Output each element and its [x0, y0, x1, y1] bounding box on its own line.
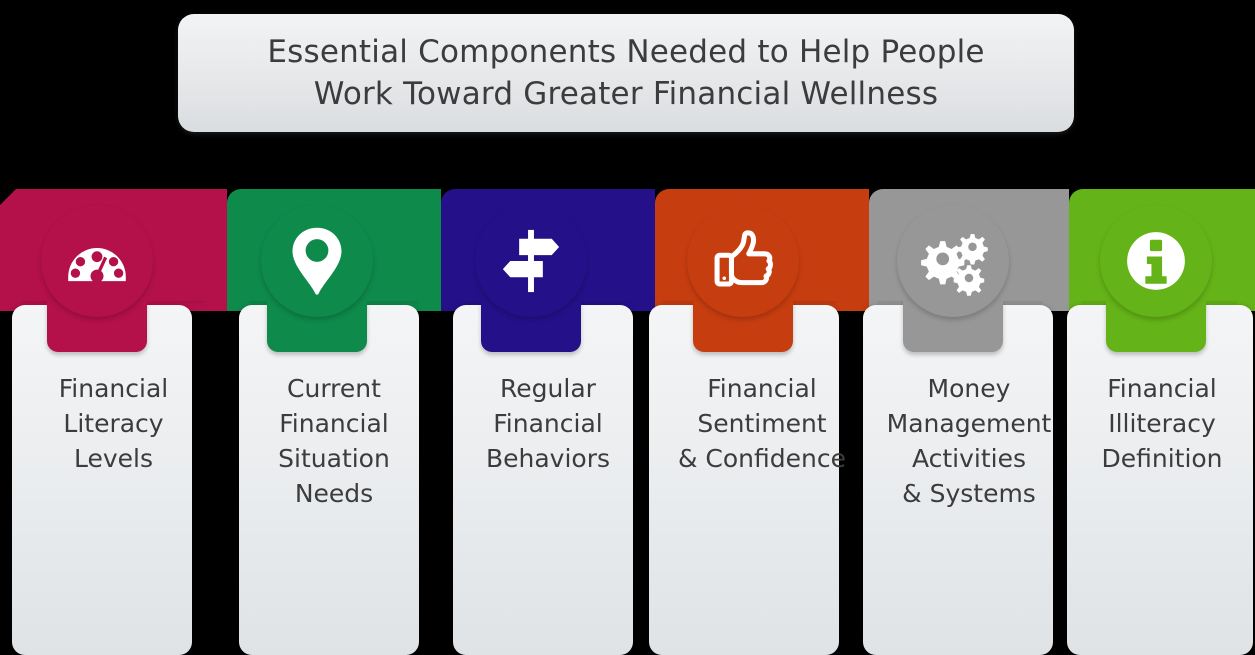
column-card	[12, 305, 192, 655]
column-label: Financial Sentiment & Confidence	[659, 371, 865, 476]
column-regular-financial-behaviors[interactable]: Regular Financial Behaviors	[441, 189, 655, 655]
gauge-icon	[41, 205, 153, 317]
column-card	[649, 305, 839, 655]
column-label: Money Management Activities & Systems	[873, 371, 1065, 511]
gears-icon	[897, 205, 1009, 317]
column-financial-sentiment-confidence[interactable]: Financial Sentiment & Confidence	[655, 189, 869, 655]
info-icon	[1100, 205, 1212, 317]
page-title-text: Essential Components Needed to Help Peop…	[239, 31, 1012, 115]
column-card	[453, 305, 633, 655]
component-columns: Financial Literacy Levels Current Financ…	[0, 189, 1255, 655]
column-label: Regular Financial Behaviors	[445, 371, 651, 476]
page-title: Essential Components Needed to Help Peop…	[178, 14, 1074, 132]
infographic-canvas: Essential Components Needed to Help Peop…	[0, 0, 1255, 655]
column-label: Current Financial Situation Needs	[231, 371, 437, 511]
column-financial-illiteracy-definition[interactable]: Financial Illiteracy Definition	[1069, 189, 1255, 655]
column-card	[1067, 305, 1253, 655]
thumbs-up-icon	[687, 205, 799, 317]
column-label: Financial Literacy Levels	[4, 371, 223, 476]
column-financial-literacy-levels[interactable]: Financial Literacy Levels	[0, 189, 227, 655]
map-pin-icon	[261, 205, 373, 317]
column-label: Financial Illiteracy Definition	[1073, 371, 1251, 476]
column-money-management-activities-systems[interactable]: Money Management Activities & Systems	[869, 189, 1069, 655]
signpost-icon	[475, 205, 587, 317]
column-current-financial-situation-needs[interactable]: Current Financial Situation Needs	[227, 189, 441, 655]
